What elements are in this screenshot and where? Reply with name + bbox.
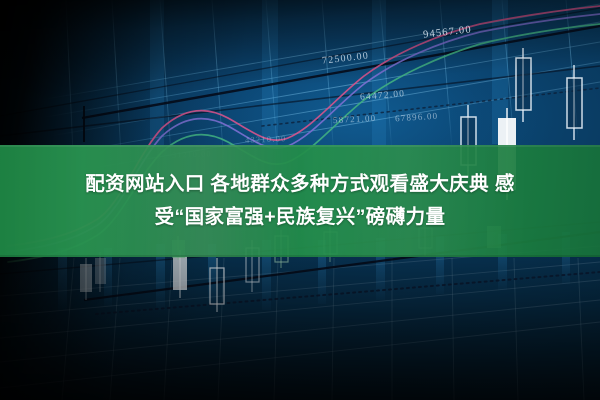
- headline-text: 配资网站入口 各地群众多种方式观看盛大庆典 感 受“国家富强+民族复兴”磅礴力量: [0, 145, 600, 257]
- headline-line-1: 配资网站入口 各地群众多种方式观看盛大庆典 感: [85, 168, 515, 201]
- screenshot-stage: 94567.00 72500.00 64472.00 58721.00 6789…: [0, 0, 600, 400]
- headline-line-2: 受“国家富强+民族复兴”磅礴力量: [155, 201, 446, 234]
- price-label-43210: 43210.00: [245, 133, 287, 145]
